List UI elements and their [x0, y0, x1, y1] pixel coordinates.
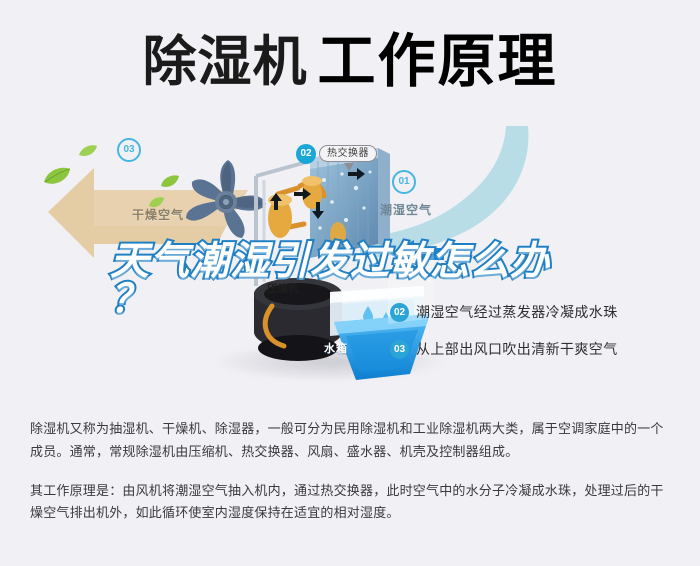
diagram-badge-02: 02	[296, 144, 316, 164]
leaf-icon	[148, 196, 165, 209]
page-title-part1: 除湿机	[142, 35, 307, 89]
legend-text-02: 潮湿空气经过蒸发器冷凝成水珠	[416, 302, 618, 322]
legend-list: 02 潮湿空气经过蒸发器冷凝成水珠 03 从上部出风口吹出清新干爽空气	[390, 302, 690, 376]
legend-item: 03 从上部出风口吹出清新干爽空气	[390, 339, 690, 359]
legend-item: 02 潮湿空气经过蒸发器冷凝成水珠	[390, 302, 690, 322]
legend-badge-03: 03	[390, 340, 409, 359]
heat-exchanger-label-pointer	[344, 163, 354, 171]
body-copy: 除湿机又称为抽湿机、干燥机、除湿器，一般可分为民用除湿机和工业除湿机两大类，属于…	[30, 418, 675, 541]
legend-badge-02: 02	[390, 303, 409, 322]
page-title-part2: 工作原理	[317, 33, 557, 91]
heat-exchanger-label: 热交换器	[319, 145, 377, 162]
dehumidifier-infographic: 除湿机 工作原理 干燥空气	[0, 0, 700, 566]
water-tank-label: 水箱	[324, 340, 348, 356]
humid-air-label: 潮湿空气	[380, 201, 432, 218]
body-paragraph-2: 其工作原理是：由风机将潮湿空气抽入机内，通过热交换器，此时空气中的水分子冷凝成水…	[30, 480, 675, 526]
compressor-label: 压缩机	[267, 280, 299, 295]
page-title: 除湿机 工作原理	[0, 24, 700, 100]
diagram-badge-03: 03	[117, 138, 141, 162]
leaf-icon	[42, 166, 72, 186]
leaf-icon	[78, 144, 98, 158]
diagram-badge-01: 01	[392, 170, 416, 194]
legend-text-03: 从上部出风口吹出清新干爽空气	[416, 339, 618, 359]
body-paragraph-1: 除湿机又称为抽湿机、干燥机、除湿器，一般可分为民用除湿机和工业除湿机两大类，属于…	[30, 418, 675, 464]
